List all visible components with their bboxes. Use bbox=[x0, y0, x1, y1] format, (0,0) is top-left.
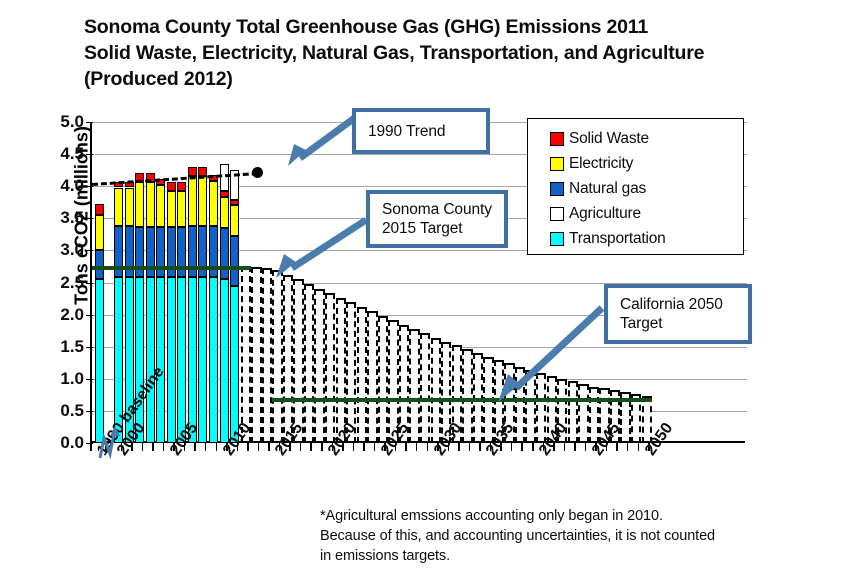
projection-bar bbox=[241, 266, 251, 443]
bar-segment-solid-waste bbox=[188, 167, 197, 176]
bar-segment-electricity bbox=[177, 191, 186, 228]
x-tick-mark bbox=[363, 443, 365, 451]
footnote-line-2: Because of this, and accounting uncertai… bbox=[320, 526, 790, 546]
bar-segment-transportation bbox=[146, 277, 155, 443]
legend-label: Electricity bbox=[569, 155, 633, 173]
bar-segment-transportation bbox=[177, 277, 186, 443]
projection-bar bbox=[409, 329, 419, 443]
x-tick-mark bbox=[616, 443, 618, 451]
x-tick-mark bbox=[152, 443, 154, 451]
bar-segment-transportation bbox=[220, 279, 229, 443]
x-tick-mark bbox=[479, 443, 481, 451]
projection-bar bbox=[367, 311, 377, 443]
x-tick-mark bbox=[163, 443, 165, 451]
projection-bar bbox=[325, 293, 335, 443]
y-tick-label: 4.0 bbox=[40, 176, 84, 196]
legend-label: Transportation bbox=[569, 230, 666, 248]
projection-bar bbox=[262, 268, 272, 443]
legend-label: Natural gas bbox=[569, 180, 646, 198]
x-tick-mark bbox=[469, 443, 471, 451]
projection-bar bbox=[272, 270, 282, 443]
x-tick-mark bbox=[300, 443, 302, 451]
legend-swatch bbox=[550, 232, 564, 246]
projection-bar bbox=[283, 275, 293, 443]
bar-segment-electricity bbox=[188, 176, 197, 226]
legend-item: Natural gas bbox=[550, 176, 743, 201]
x-tick-mark bbox=[532, 443, 534, 451]
x-tick-mark bbox=[321, 443, 323, 451]
projection-bar bbox=[420, 333, 430, 443]
reference-line-sonoma-2015-target bbox=[92, 266, 251, 270]
bar-segment-electricity bbox=[209, 181, 218, 226]
bar-segment-solid-waste bbox=[220, 191, 229, 197]
bar-segment-solid-waste bbox=[177, 182, 186, 190]
callout-sonoma-2015-line-1: Sonoma County bbox=[382, 200, 492, 219]
x-tick-mark bbox=[268, 443, 270, 451]
x-tick-mark bbox=[638, 443, 640, 451]
legend-swatch bbox=[550, 207, 564, 221]
stacked-bar bbox=[167, 182, 176, 443]
bar-segment-natural-gas bbox=[230, 236, 239, 286]
leader-line-california-2050 bbox=[494, 302, 608, 402]
x-tick-mark bbox=[427, 443, 429, 451]
bar-segment-natural-gas bbox=[220, 228, 229, 279]
stacked-bar bbox=[209, 175, 218, 443]
stacked-bar bbox=[230, 170, 239, 443]
stacked-bar bbox=[188, 167, 197, 443]
projection-bar bbox=[378, 316, 388, 443]
legend-item: Electricity bbox=[550, 151, 743, 176]
x-tick-mark bbox=[627, 443, 629, 451]
bar-segment-transportation bbox=[167, 277, 176, 443]
legend-label: Solid Waste bbox=[569, 130, 649, 148]
projection-bar bbox=[304, 284, 314, 443]
bar-segment-electricity bbox=[220, 197, 229, 228]
bar-segment-electricity bbox=[135, 182, 144, 227]
callout-california-2050-line-2: Target bbox=[620, 314, 662, 333]
bar-segment-electricity bbox=[167, 191, 176, 228]
title-line-2: Solid Waste, Electricity, Natural Gas, T… bbox=[84, 40, 824, 66]
legend-swatch bbox=[550, 132, 564, 146]
bar-segment-transportation bbox=[95, 279, 104, 443]
legend-item: Solid Waste bbox=[550, 126, 743, 151]
x-tick-mark bbox=[458, 443, 460, 451]
y-tick-label: 1.5 bbox=[40, 337, 84, 357]
x-tick-mark bbox=[574, 443, 576, 451]
x-tick-mark bbox=[564, 443, 566, 451]
bar-segment-electricity bbox=[114, 188, 123, 227]
x-tick-mark bbox=[142, 443, 144, 451]
bar-segment-solid-waste bbox=[167, 182, 176, 190]
bar-segment-transportation bbox=[209, 277, 218, 443]
legend-swatch bbox=[550, 157, 564, 171]
x-tick-mark bbox=[247, 443, 249, 451]
bar-segment-electricity bbox=[230, 205, 239, 236]
callout-california-2050-target: California 2050 Target bbox=[604, 284, 752, 344]
leader-line-sonoma-2015 bbox=[272, 216, 372, 278]
x-tick-mark bbox=[90, 443, 92, 451]
legend-item: Transportation bbox=[550, 226, 743, 251]
y-tick-label: 3.0 bbox=[40, 240, 84, 260]
footnote: *Agricultural emssions accounting only b… bbox=[320, 506, 790, 566]
projection-bar bbox=[431, 338, 441, 443]
x-tick-mark bbox=[310, 443, 312, 451]
stacked-bar bbox=[220, 164, 229, 443]
y-tick-label: 0.5 bbox=[40, 401, 84, 421]
stacked-bar bbox=[198, 167, 207, 443]
x-tick-mark bbox=[511, 443, 513, 451]
title-line-3: (Produced 2012) bbox=[84, 66, 824, 92]
y-axis-tick-labels: 0.00.51.01.52.02.53.03.54.04.55.0 bbox=[36, 122, 84, 443]
stacked-bar bbox=[95, 204, 104, 443]
bar-segment-electricity bbox=[95, 215, 104, 250]
x-tick-mark bbox=[258, 443, 260, 451]
projection-bar bbox=[314, 289, 324, 443]
bar-segment-transportation bbox=[230, 286, 239, 443]
bar-segment-electricity bbox=[125, 188, 134, 227]
chart-title: Sonoma County Total Greenhouse Gas (GHG)… bbox=[84, 14, 824, 92]
y-tick-label: 2.5 bbox=[40, 273, 84, 293]
legend-swatch bbox=[550, 182, 564, 196]
x-tick-mark bbox=[416, 443, 418, 451]
x-tick-mark bbox=[374, 443, 376, 451]
legend: Solid WasteElectricityNatural gasAgricul… bbox=[527, 118, 744, 255]
callout-trend-1990: 1990 Trend bbox=[352, 108, 490, 154]
y-tick-label: 5.0 bbox=[40, 112, 84, 132]
bar-segment-solid-waste bbox=[230, 200, 239, 205]
bar-segment-agriculture bbox=[220, 164, 229, 192]
callout-sonoma-2015-line-2: 2015 Target bbox=[382, 219, 463, 238]
stacked-bar bbox=[156, 179, 165, 444]
bar-segment-electricity bbox=[198, 176, 207, 226]
projection-bar bbox=[293, 279, 303, 443]
y-tick-label: 4.5 bbox=[40, 144, 84, 164]
x-tick-mark bbox=[353, 443, 355, 451]
x-tick-mark bbox=[585, 443, 587, 451]
chart-root: Sonoma County Total Greenhouse Gas (GHG)… bbox=[0, 0, 843, 583]
x-tick-mark bbox=[216, 443, 218, 451]
bar-segment-electricity bbox=[146, 182, 155, 227]
bar-segment-electricity bbox=[156, 185, 165, 227]
x-tick-mark bbox=[405, 443, 407, 451]
bar-segment-transportation bbox=[156, 277, 165, 443]
x-tick-mark bbox=[205, 443, 207, 451]
bar-segment-solid-waste bbox=[95, 204, 104, 215]
projection-bar bbox=[251, 267, 261, 443]
bar-segment-natural-gas bbox=[95, 250, 104, 280]
projection-bar bbox=[357, 307, 367, 443]
baseline-marker-squiggle bbox=[96, 424, 122, 460]
callout-california-2050-line-1: California 2050 bbox=[620, 295, 723, 314]
y-tick-label: 0.0 bbox=[40, 433, 84, 453]
y-tick-label: 2.0 bbox=[40, 305, 84, 325]
stacked-bar bbox=[177, 182, 186, 443]
y-tick-label: 3.5 bbox=[40, 208, 84, 228]
legend-item: Agriculture bbox=[550, 201, 743, 226]
footnote-line-1: *Agricultural emssions accounting only b… bbox=[320, 506, 790, 526]
stacked-bar bbox=[114, 182, 123, 443]
bar-segment-transportation bbox=[188, 277, 197, 443]
title-line-1: Sonoma County Total Greenhouse Gas (GHG)… bbox=[84, 14, 824, 40]
callout-trend-1990-line-1: 1990 Trend bbox=[368, 122, 445, 141]
footnote-line-3: in emissions targets. bbox=[320, 546, 790, 566]
bar-segment-transportation bbox=[198, 277, 207, 443]
callout-sonoma-2015-target: Sonoma County 2015 Target bbox=[366, 190, 508, 248]
x-tick-mark bbox=[194, 443, 196, 451]
y-tick-label: 1.0 bbox=[40, 369, 84, 389]
x-tick-mark bbox=[521, 443, 523, 451]
legend-label: Agriculture bbox=[569, 205, 641, 223]
